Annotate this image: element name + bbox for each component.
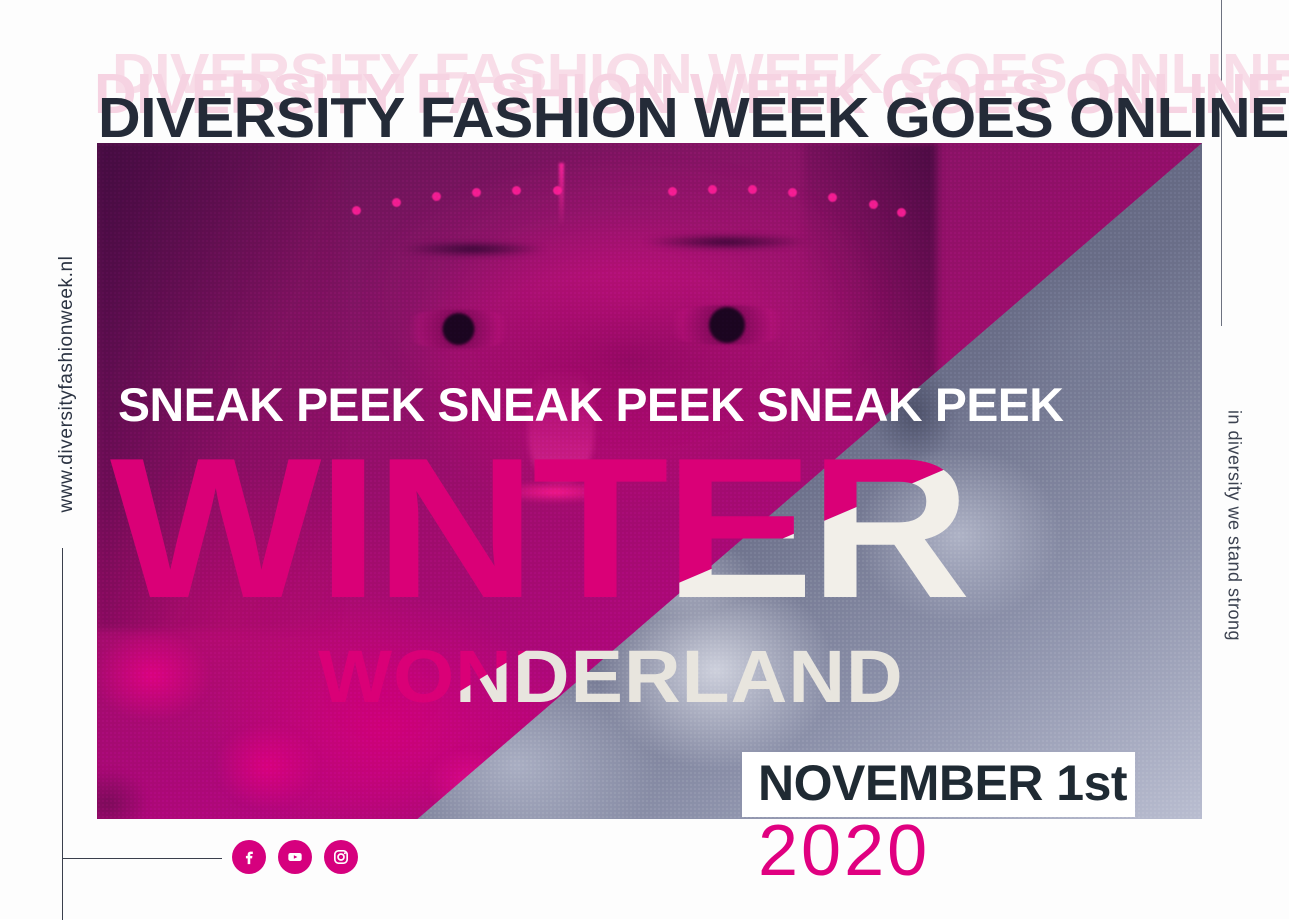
sneak-peek-strip: SNEAK PEEK SNEAK PEEK SNEAK PEEK <box>118 381 1199 428</box>
facebook-icon[interactable] <box>232 840 266 874</box>
forehead-jewel-dots <box>340 184 915 231</box>
headline-wonderland: WONDERLAND WONDERLAND <box>318 640 1078 720</box>
page-title: DIVERSITY FASHION WEEK GOES ONLINE DIVER… <box>90 34 1205 138</box>
date-month-day: NOVEMBER 1st <box>758 755 1127 813</box>
headline-winter: WINTER WINTER <box>110 437 1180 637</box>
page-title-main: DIVERSITY FASHION WEEK GOES ONLINE <box>98 90 1252 147</box>
left-vertical-rule <box>62 548 63 920</box>
date-year: 2020 <box>758 815 930 887</box>
eyebrow-left <box>401 241 545 257</box>
instagram-icon[interactable] <box>324 840 358 874</box>
eye-left <box>395 309 522 349</box>
eye-right <box>655 305 799 345</box>
date-box: NOVEMBER 1st <box>742 752 1135 817</box>
poster-canvas: DIVERSITY FASHION WEEK GOES ONLINE DIVER… <box>0 0 1289 919</box>
website-url[interactable]: www.diversityfashionweek.nl <box>56 204 78 564</box>
social-links <box>232 840 358 874</box>
bottom-horizontal-rule <box>62 858 222 859</box>
youtube-icon[interactable] <box>278 840 312 874</box>
